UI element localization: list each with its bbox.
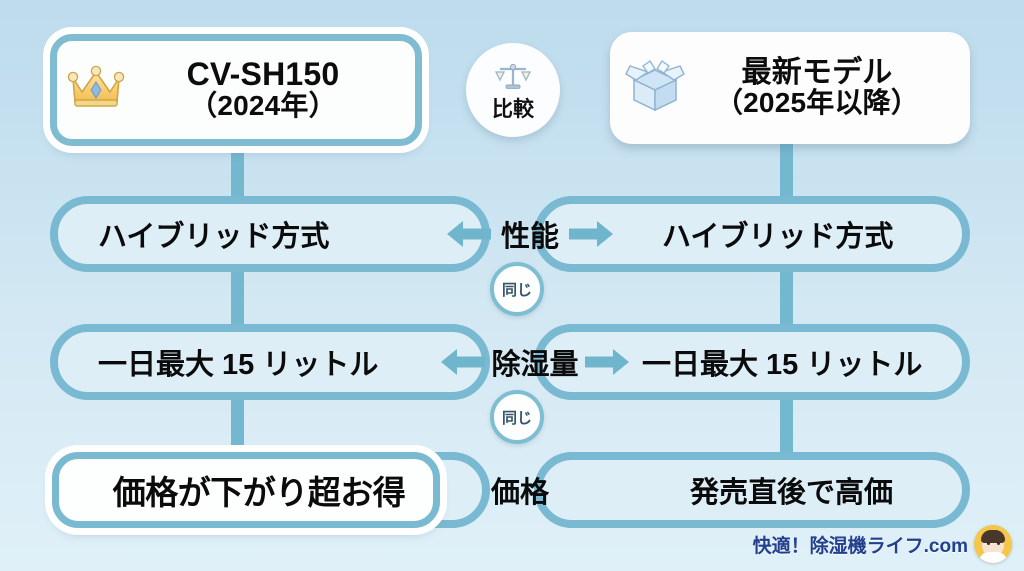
current-model-year: （2024年） <box>189 91 337 122</box>
row-performance-attribute: 性能 <box>501 213 559 255</box>
row-price-attribute: 価格 <box>491 469 549 511</box>
row-performance-center: 性能 <box>380 196 680 272</box>
row-price-right-value: 発売直後で高価 <box>690 469 893 511</box>
row-performance-left-value: ハイブリッド方式 <box>98 213 329 255</box>
row-performance-right-value: ハイブリッド方式 <box>662 213 893 255</box>
infographic-canvas: CV-SH150 （2024年） 比較 <box>0 0 1024 571</box>
connector-right-row2-to-row3 <box>780 398 793 454</box>
site-name: 快適！除湿機ライフ.com <box>753 531 968 558</box>
new-model-name: 最新モデル <box>742 57 893 88</box>
connector-left-header-to-row1 <box>231 140 244 202</box>
product-card-current-model[interactable]: CV-SH150 （2024年） <box>50 34 422 146</box>
connector-right-row1-to-row2 <box>780 270 793 330</box>
verdict-badge-dehumidification: 同じ <box>490 390 544 444</box>
connector-left-row2-to-row3 <box>231 398 244 454</box>
comparison-row-dehumidification: 一日最大 15 リットル 一日最大 15 リットル 除湿量 <box>0 324 1024 400</box>
crown-icon <box>67 62 125 119</box>
verdict-badge-dehumidification-label: 同じ <box>502 407 532 428</box>
person-avatar-icon <box>974 525 1012 563</box>
connector-right-header-to-row1 <box>780 140 793 202</box>
row-price-center: 価格 <box>420 452 620 528</box>
current-model-name: CV-SH150 <box>187 58 340 91</box>
arrow-left-icon <box>441 347 485 377</box>
comparison-row-price: 発売直後で高価 価格が下がり超お得 価格 <box>0 452 1024 528</box>
comparison-row-performance: ハイブリッド方式 ハイブリッド方式 性能 <box>0 196 1024 272</box>
row-price-left-value: 価格が下がり超お得 <box>113 466 406 514</box>
verdict-badge-performance: 同じ <box>490 262 544 316</box>
comparison-badge: 比較 <box>466 43 560 137</box>
product-card-new-model[interactable]: 最新モデル （2025年以降） <box>610 32 970 144</box>
arrow-left-icon <box>447 219 491 249</box>
row-dehumidification-attribute: 除湿量 <box>491 341 578 383</box>
arrow-right-icon <box>585 347 629 377</box>
verdict-badge-performance-label: 同じ <box>502 279 532 300</box>
open-box-icon <box>624 58 686 118</box>
row-dehumidification-center: 除湿量 <box>390 324 680 400</box>
row-dehumidification-left-value: 一日最大 15 リットル <box>98 341 378 383</box>
row-price-left-value-cell[interactable]: 価格が下がり超お得 <box>52 452 440 528</box>
row-dehumidification-right-value: 一日最大 15 リットル <box>642 341 922 383</box>
new-model-year: （2025年以降） <box>715 88 919 119</box>
balance-scale-icon <box>495 61 531 98</box>
arrow-right-icon <box>569 219 613 249</box>
comparison-label: 比較 <box>492 99 534 120</box>
site-watermark: 快適！除湿機ライフ.com <box>753 525 1012 563</box>
connector-left-row1-to-row2 <box>231 270 244 330</box>
